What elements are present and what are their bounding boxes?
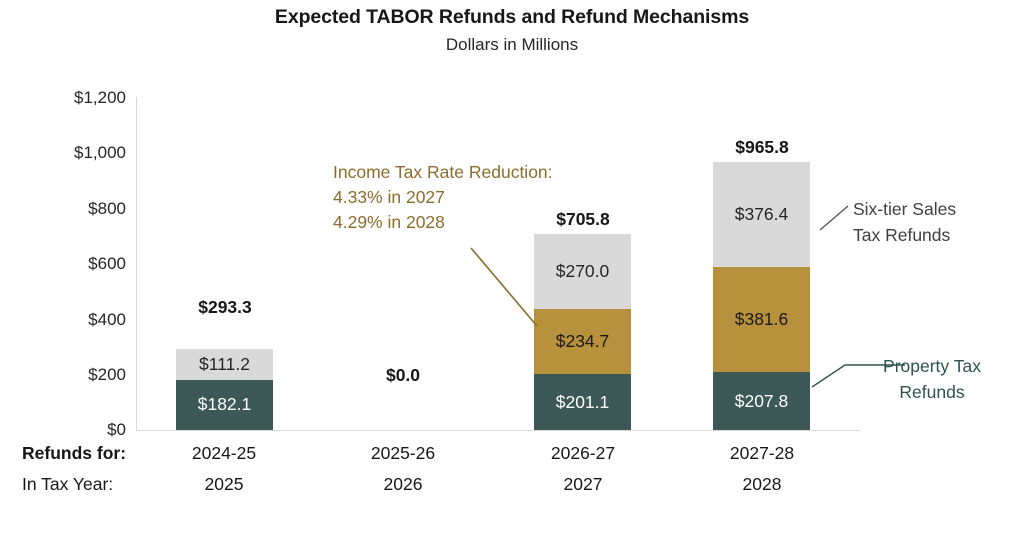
x-axis-row-label-refunds-for: Refunds for: [22,443,162,464]
callout-property-line-1: Property Tax [852,353,1012,379]
callout-six-tier-sales-tax-refunds: Six-tier Sales Tax Refunds [853,196,956,248]
callout-sales-line-2: Tax Refunds [853,222,956,248]
segment-property-2027-28[interactable]: $207.8 [713,372,810,430]
segment-property-2024-25[interactable]: $182.1 [176,380,273,431]
segment-sales-2026-27[interactable]: $270.0 [534,234,631,309]
x-taxyear-2028: 2028 [682,474,842,495]
y-tick-800: $800 [16,200,126,217]
x-taxyear-2025: 2025 [144,474,304,495]
segment-income-2026-27[interactable]: $234.7 [534,309,631,374]
annotation-income-tax-rate-reduction: Income Tax Rate Reduction: 4.33% in 2027… [333,160,553,235]
y-tick-0: $0 [16,421,126,438]
y-tick-400: $400 [16,311,126,328]
x-category-2026-27: 2026-27 [503,443,663,464]
y-tick-1200: $1,200 [16,89,126,106]
chart-title: Expected TABOR Refunds and Refund Mechan… [0,6,1024,29]
segment-property-2026-27[interactable]: $201.1 [534,374,631,430]
chart-subtitle: Dollars in Millions [0,35,1024,55]
x-category-2027-28: 2027-28 [682,443,842,464]
bar-total-2027-28: $965.8 [692,137,832,158]
x-taxyear-2026: 2026 [323,474,483,495]
callout-property-tax-refunds: Property Tax Refunds [852,353,1012,405]
bar-total-2024-25: $293.3 [155,297,295,318]
x-category-2024-25: 2024-25 [144,443,304,464]
segment-income-2027-28[interactable]: $381.6 [713,267,810,373]
bar-total-2025-26: $0.0 [333,365,473,386]
annotation-income-line-3: 4.29% in 2028 [333,210,553,235]
x-category-2025-26: 2025-26 [323,443,483,464]
y-tick-1000: $1,000 [16,144,126,161]
segment-sales-2024-25[interactable]: $111.2 [176,349,273,380]
tabor-refunds-chart: Expected TABOR Refunds and Refund Mechan… [0,0,1024,538]
plot-area: $293.3 $111.2 $182.1 $0.0 $705.8 $270.0 … [136,97,860,430]
annotation-income-line-2: 4.33% in 2027 [333,185,553,210]
x-taxyear-2027: 2027 [503,474,663,495]
callout-property-line-2: Refunds [852,379,1012,405]
x-axis: Refunds for: In Tax Year: 2024-25 2025 2… [0,443,1024,503]
segment-sales-2027-28[interactable]: $376.4 [713,162,810,266]
annotation-income-line-1: Income Tax Rate Reduction: [333,160,553,185]
y-tick-200: $200 [16,366,126,383]
x-axis-line [136,430,860,431]
callout-sales-line-1: Six-tier Sales [853,196,956,222]
y-tick-600: $600 [16,255,126,272]
x-axis-row-label-in-tax-year: In Tax Year: [22,474,162,495]
